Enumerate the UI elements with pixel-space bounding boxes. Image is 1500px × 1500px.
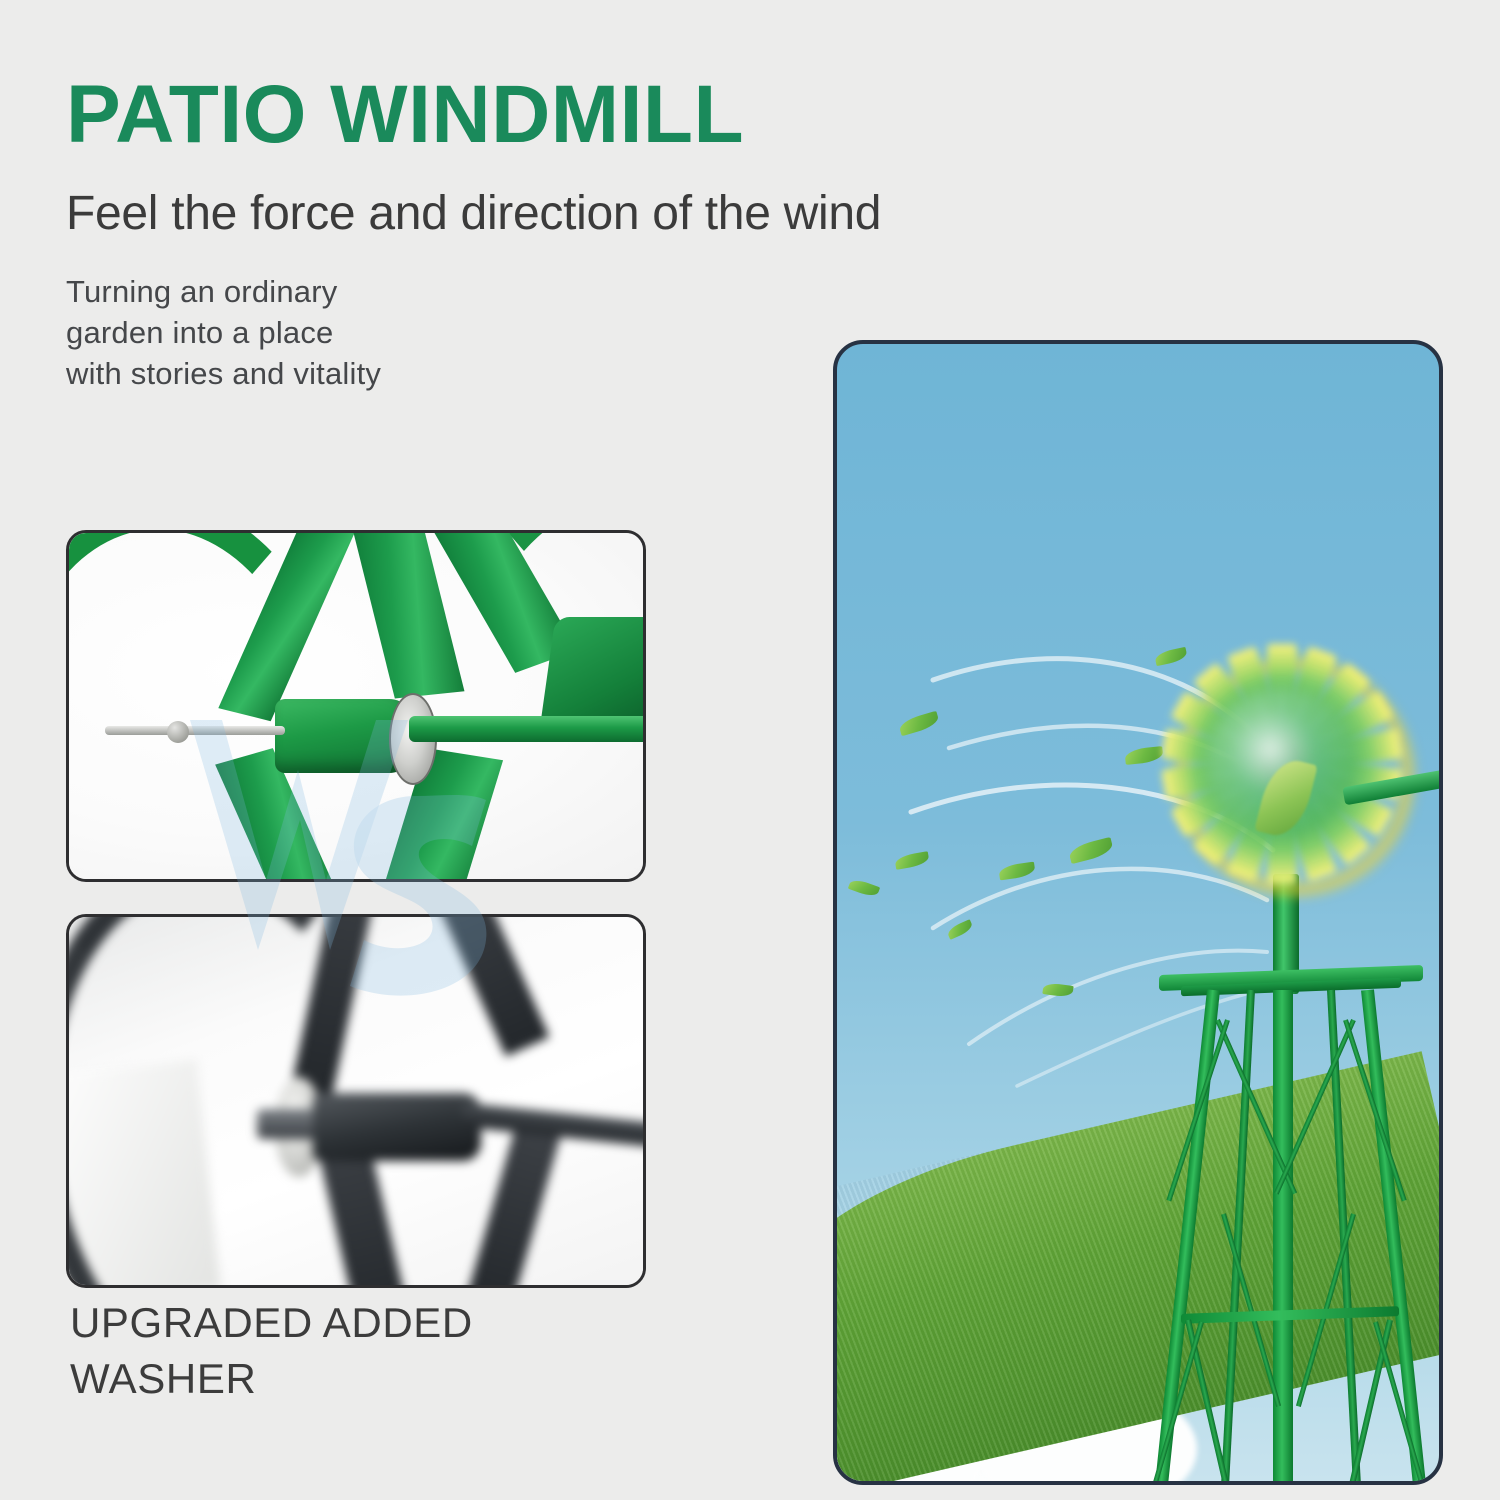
photo-card-dark-washer	[66, 914, 646, 1288]
green-hub-illustration	[69, 533, 643, 879]
photo-card-green-hub	[66, 530, 646, 882]
description-text: Turning an ordinary garden into a place …	[66, 272, 381, 395]
product-infographic: PATIO WINDMILL Feel the force and direct…	[0, 0, 1500, 1500]
description-line-1: Turning an ordinary	[66, 272, 381, 313]
caption-line-2: WASHER	[70, 1351, 473, 1407]
description-line-3: with stories and vitality	[66, 354, 381, 395]
description-line-2: garden into a place	[66, 313, 381, 354]
hero-image-windmill-scene	[833, 340, 1443, 1485]
feature-caption: UPGRADED ADDED WASHER	[70, 1295, 473, 1407]
windmill-tower	[1155, 934, 1435, 1481]
dark-washer-illustration	[69, 917, 643, 1285]
windmill-fan-head	[1137, 609, 1427, 919]
caption-line-1: UPGRADED ADDED	[70, 1295, 473, 1351]
page-title: PATIO WINDMILL	[66, 74, 744, 156]
windmill-scene-illustration	[837, 344, 1439, 1481]
subtitle: Feel the force and direction of the wind	[66, 186, 881, 241]
